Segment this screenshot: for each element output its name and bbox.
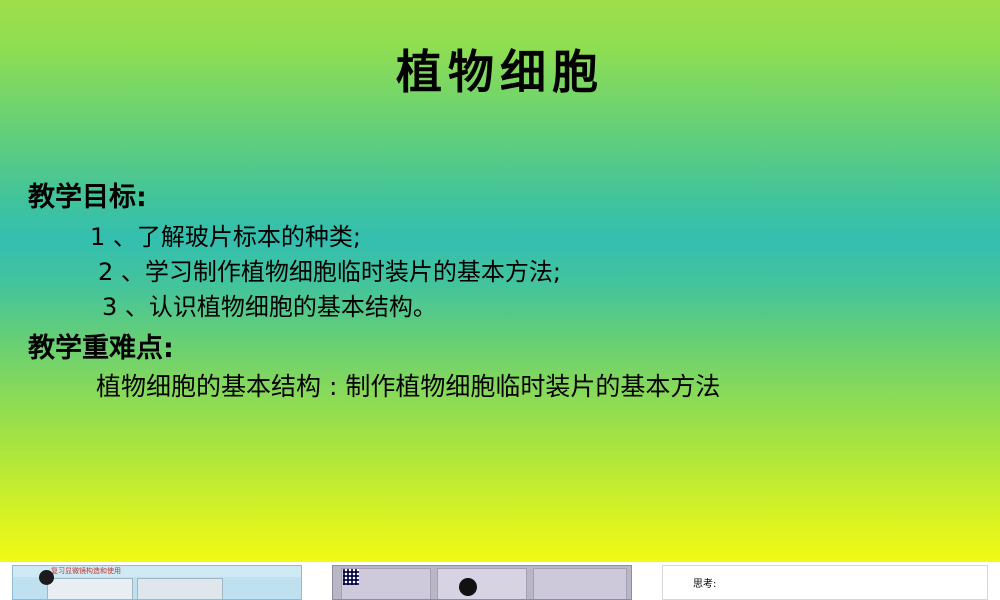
objectives-list: 1 、了解玻片标本的种类; 2 、学习制作植物细胞临时装片的基本方法; 3 、认… (28, 220, 978, 324)
slide-body: 教学目标: 1 、了解玻片标本的种类; 2 、学习制作植物细胞临时装片的基本方法… (28, 180, 978, 406)
focus-heading: 教学重难点: (28, 331, 978, 367)
play-overlay-icon (39, 570, 54, 585)
play-overlay-icon (459, 578, 477, 596)
objective-item-3: 3 、认识植物细胞的基本结构。 (28, 290, 978, 325)
slide-thumb-question[interactable]: 思考: (662, 565, 988, 600)
page-title: 植物细胞 (0, 36, 1000, 102)
slide-thumb-cells[interactable] (332, 565, 632, 600)
focus-text: 植物细胞的基本结构 : 制作植物细胞临时装片的基本方法 (28, 369, 978, 405)
qr-code-icon (343, 569, 359, 585)
objectives-heading: 教学目标: (28, 180, 978, 216)
thumb-cell-image-b (437, 568, 527, 600)
thumb-image-right (137, 578, 223, 600)
presentation-slide: 植物细胞 教学目标: 1 、了解玻片标本的种类; 2 、学习制作植物细胞临时装片… (0, 0, 1000, 600)
thumb-caption: 思考: (693, 575, 716, 590)
thumb-image-left (47, 578, 133, 600)
slide-thumb-microscope[interactable]: 复习显微镜构造和使用 (12, 565, 302, 600)
thumb-caption: 复习显微镜构造和使用 (51, 566, 121, 576)
thumb-cell-image-c (533, 568, 627, 600)
slide-thumbnail-strip: 复习显微镜构造和使用 思考: (0, 562, 1000, 600)
objective-item-2: 2 、学习制作植物细胞临时装片的基本方法; (28, 255, 978, 290)
objective-item-1: 1 、了解玻片标本的种类; (28, 220, 978, 255)
